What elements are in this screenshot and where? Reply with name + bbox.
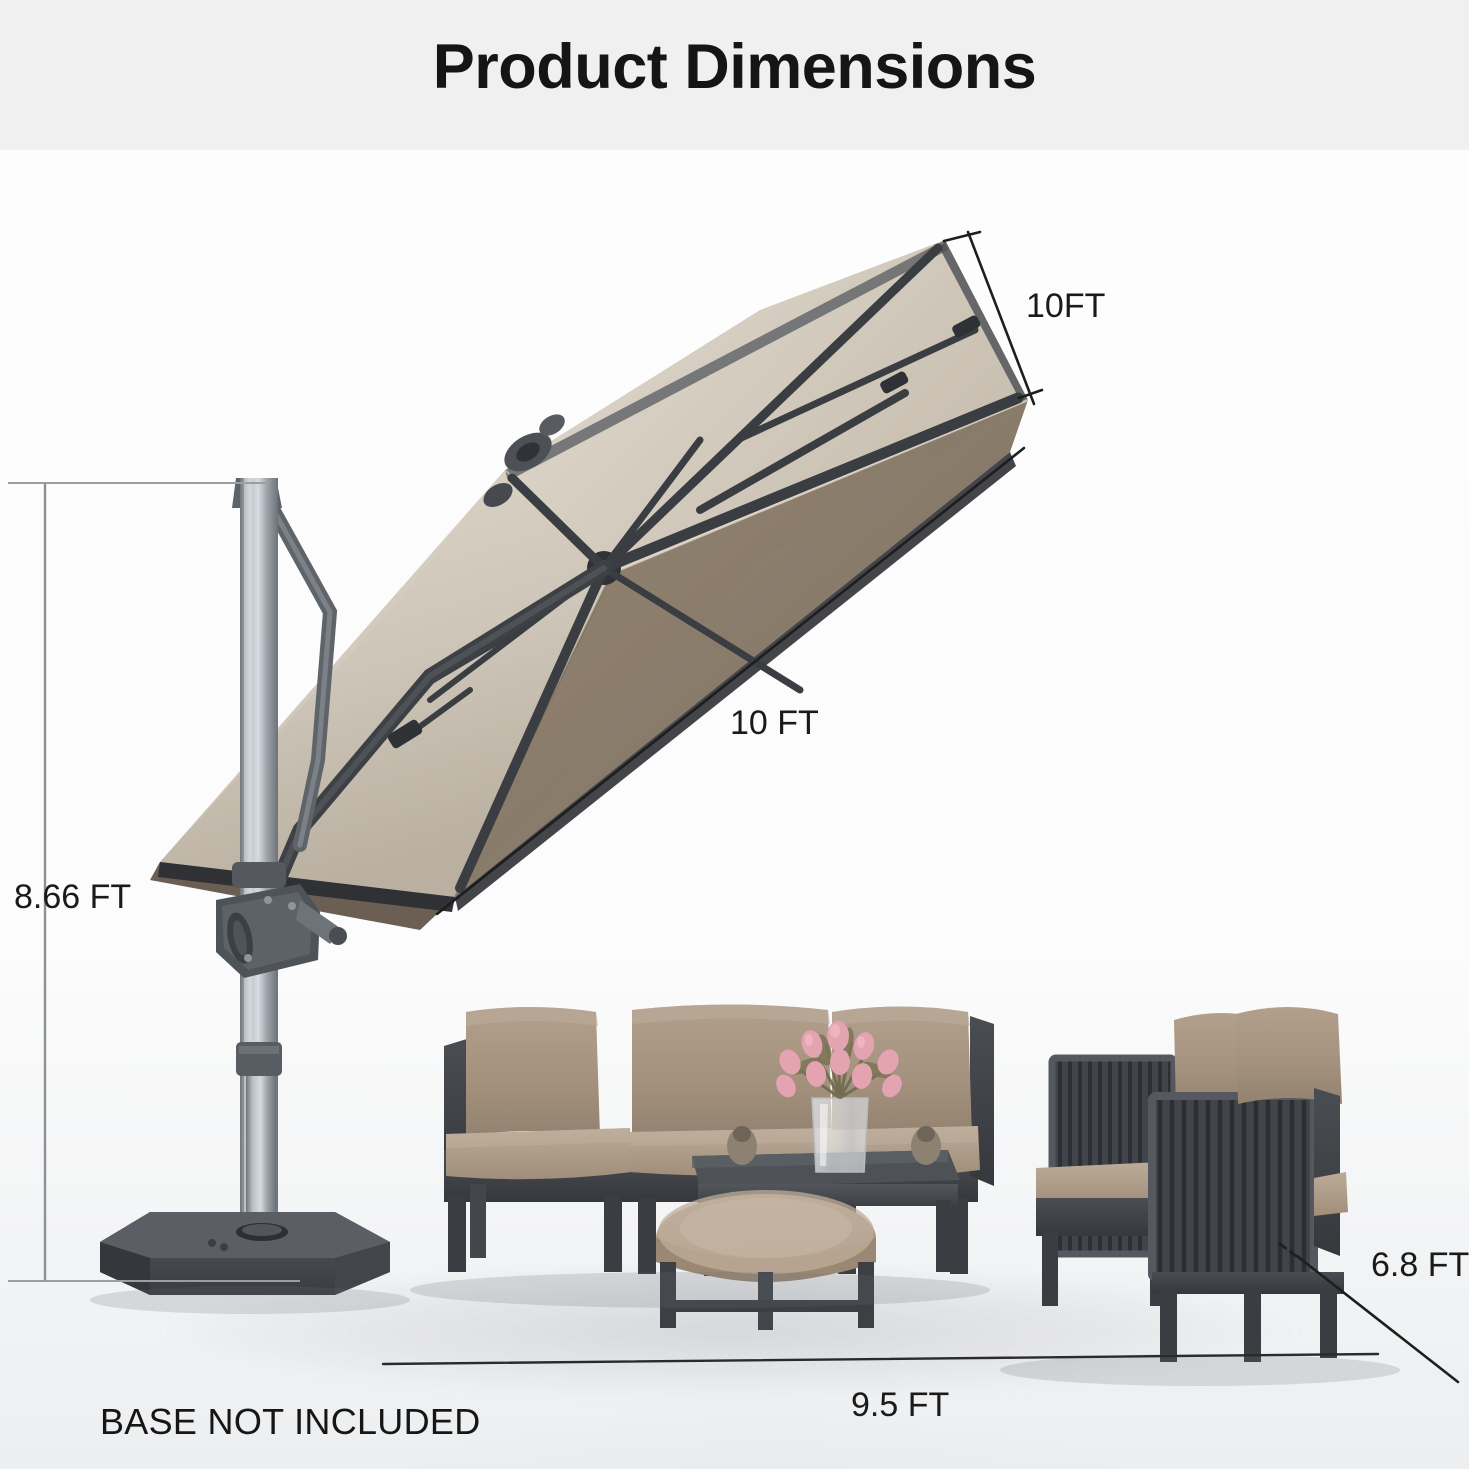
dim-label-canopy-depth: 10FT [1026, 289, 1105, 323]
dim-label-height: 8.66 FT [14, 880, 131, 914]
dim-canopy-width-line [437, 448, 1024, 914]
product-dimensions-infographic: Product Dimensions [0, 0, 1469, 1469]
dim-set-width-line [383, 1354, 1378, 1364]
dim-label-canopy-width: 10 FT [730, 706, 819, 740]
base-not-included-note: BASE NOT INCLUDED [100, 1404, 481, 1440]
dim-label-set-depth: 6.8 FT [1371, 1248, 1469, 1282]
dim-label-set-width: 9.5 FT [851, 1388, 949, 1422]
